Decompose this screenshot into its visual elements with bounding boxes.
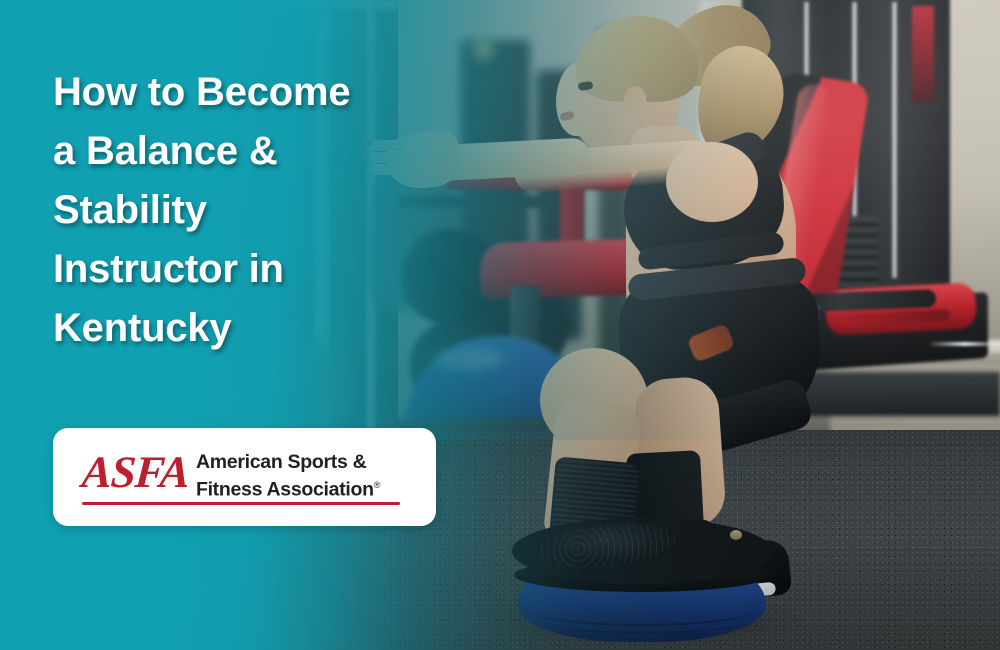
background-light-bokeh <box>470 36 496 62</box>
blog-banner: How to Become a Balance & Stability Inst… <box>0 0 1000 650</box>
glass-top-mullion <box>0 0 398 10</box>
asfa-logo-inner: ASFA American Sports & Fitness Associati… <box>82 450 416 508</box>
asfa-wordmark: ASFA <box>80 450 190 495</box>
background-light-bokeh <box>260 36 276 52</box>
glass-reflection-streak <box>210 16 370 34</box>
asfa-name-line-1: American Sports & <box>196 451 366 473</box>
asfa-full-name: American Sports & Fitness Association® <box>196 450 380 501</box>
registered-trademark-icon: ® <box>374 480 380 490</box>
athlete-shoulder <box>666 142 758 222</box>
bosu-inflation-valve <box>730 530 742 540</box>
asfa-logo-row: ASFA American Sports & Fitness Associati… <box>82 450 416 501</box>
asfa-logo-underline <box>82 502 400 505</box>
asfa-logo-card[interactable]: ASFA American Sports & Fitness Associati… <box>53 428 436 526</box>
athlete-ear <box>624 86 646 114</box>
page-title: How to Become a Balance & Stability Inst… <box>53 63 473 358</box>
asfa-name-line-2: Fitness Association <box>196 478 374 500</box>
bosu-dome-seam <box>538 606 746 634</box>
bosu-balance-trainer <box>512 500 772 630</box>
